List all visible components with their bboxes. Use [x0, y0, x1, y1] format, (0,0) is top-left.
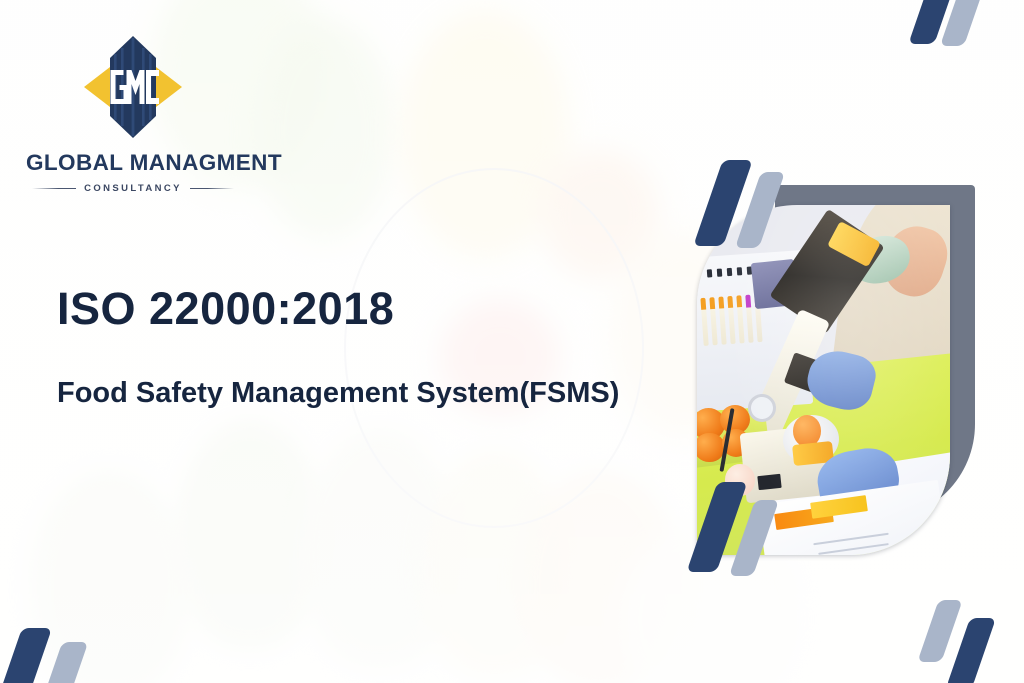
ribbon-gray [42, 642, 89, 683]
company-logo[interactable]: GLOBAL MANAGMENT CONSULTANCY [26, 34, 240, 194]
background-blob-peach [540, 150, 660, 280]
logo-tagline: CONSULTANCY [84, 183, 182, 194]
background-blob-yellow [400, 10, 570, 260]
page-title: ISO 22000:2018 [57, 283, 394, 335]
background-ghost-vegetable-1 [175, 420, 325, 650]
background-ghost-vegetable-4 [520, 470, 680, 683]
ribbon-navy [946, 618, 996, 683]
iso-22000-banner: GLOBAL MANAGMENT CONSULTANCY ISO 22000:2… [0, 0, 1024, 683]
background-circle-outline [344, 168, 644, 528]
ribbon-gray [940, 0, 988, 46]
laboratory-photo-group [680, 160, 1024, 580]
logo-tagline-row: CONSULTANCY [26, 183, 240, 194]
ribbon-navy [0, 628, 52, 683]
background-ghost-vegetable-3 [420, 450, 570, 680]
ribbon-gray [917, 600, 962, 662]
page-subtitle: Food Safety Management System(FSMS) [57, 377, 619, 410]
background-ghost-vegetable-5 [30, 470, 190, 683]
background-ghost-vegetable-2 [300, 430, 460, 670]
tagline-rule-left [32, 188, 76, 189]
background-blob-green-2 [255, 20, 395, 240]
gmc-diamond-emblem-icon [80, 34, 186, 140]
logo-wordmark: GLOBAL MANAGMENT [26, 150, 240, 176]
tagline-rule-right [190, 188, 234, 189]
